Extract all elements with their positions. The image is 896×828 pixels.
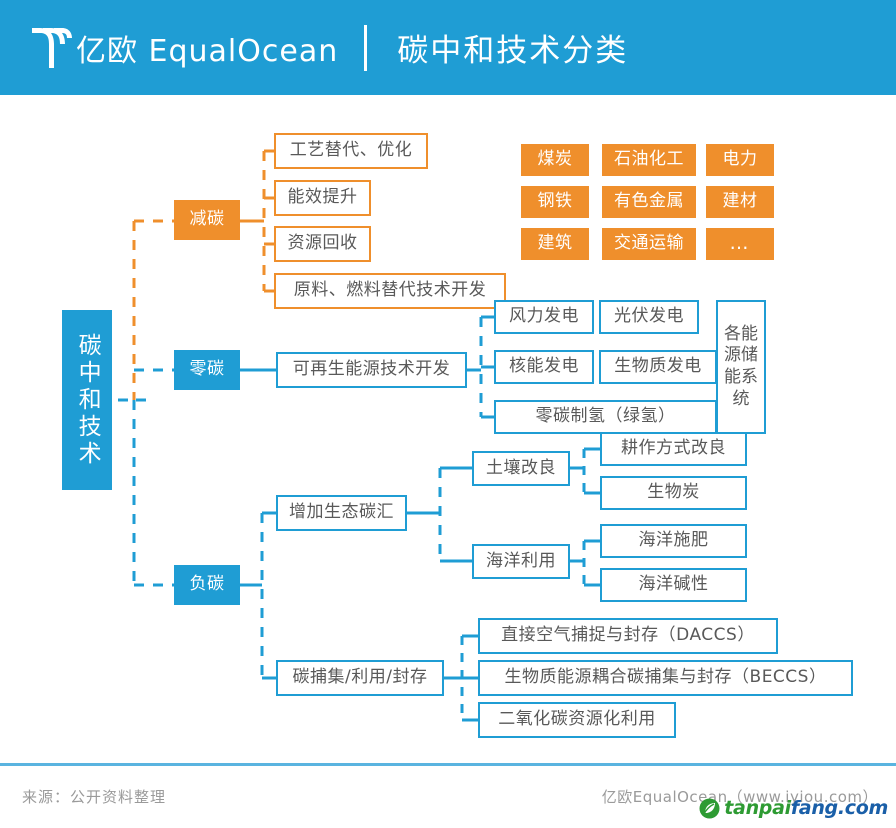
- node-zero-item-3[interactable]: 生物质发电: [599, 350, 717, 384]
- node-ccus-item-0[interactable]: 直接空气捕捉与封存（DACCS）: [478, 618, 778, 654]
- node-soil-item-1[interactable]: 生物炭: [600, 476, 747, 510]
- node-reduce-child-0[interactable]: 工艺替代、优化: [274, 133, 428, 169]
- branch-chip-negative[interactable]: 负碳: [174, 565, 240, 605]
- industry-tag-2[interactable]: 电力: [706, 144, 774, 176]
- industry-tag-8[interactable]: …: [706, 228, 774, 260]
- watermark: tanpaifang.com: [699, 797, 888, 819]
- industry-tag-0[interactable]: 煤炭: [521, 144, 589, 176]
- header-divider: [364, 25, 367, 71]
- diagram-canvas: 碳中和技术 减碳 工艺替代、优化 能效提升 资源回收 原料、燃料替代技术开发 煤…: [0, 95, 896, 755]
- brand-logo: 亿欧 EqualOcean: [30, 25, 338, 71]
- watermark-text-b: fang.com: [791, 797, 888, 819]
- node-zero-item-0[interactable]: 风力发电: [494, 300, 594, 334]
- node-reduce-child-3[interactable]: 原料、燃料替代技术开发: [274, 273, 506, 309]
- industry-tag-4[interactable]: 有色金属: [602, 186, 696, 218]
- node-ocean-item-0[interactable]: 海洋施肥: [600, 524, 747, 558]
- node-ocean-use[interactable]: 海洋利用: [472, 544, 570, 579]
- node-eco-sink[interactable]: 增加生态碳汇: [276, 495, 407, 531]
- node-zero-item-1[interactable]: 光伏发电: [599, 300, 699, 334]
- watermark-text: tanpaifang.com: [724, 797, 888, 819]
- branch-chip-reduce[interactable]: 减碳: [174, 200, 240, 240]
- industry-tag-3[interactable]: 钢铁: [521, 186, 589, 218]
- industry-tag-7[interactable]: 交通运输: [602, 228, 696, 260]
- node-zero-child-0[interactable]: 可再生能源技术开发: [276, 352, 467, 388]
- footer-divider: [0, 763, 896, 766]
- leaf-badge-icon: [699, 798, 720, 819]
- node-ccus-item-1[interactable]: 生物质能源耦合碳捕集与封存（BECCS）: [478, 660, 853, 696]
- node-reduce-child-2[interactable]: 资源回收: [274, 226, 371, 262]
- root-node[interactable]: 碳中和技术: [62, 310, 112, 490]
- source-note: 来源：公开资料整理: [22, 786, 166, 807]
- node-energy-storage[interactable]: 各能源储能系统: [716, 300, 766, 434]
- brand-name: 亿欧 EqualOcean: [76, 26, 338, 70]
- node-zero-item-2[interactable]: 核能发电: [494, 350, 594, 384]
- industry-tag-5[interactable]: 建材: [706, 186, 774, 218]
- node-ocean-item-1[interactable]: 海洋碱性: [600, 568, 747, 602]
- watermark-text-a: tanpai: [724, 797, 791, 819]
- node-reduce-child-1[interactable]: 能效提升: [274, 180, 371, 216]
- node-soil-improve[interactable]: 土壤改良: [472, 451, 570, 486]
- equalocean-logo-icon: [30, 25, 72, 71]
- page-header: 亿欧 EqualOcean 碳中和技术分类: [0, 0, 896, 95]
- industry-tag-1[interactable]: 石油化工: [602, 144, 696, 176]
- node-ccus[interactable]: 碳捕集/利用/封存: [276, 660, 444, 696]
- page-title: 碳中和技术分类: [397, 25, 628, 70]
- node-soil-item-0[interactable]: 耕作方式改良: [600, 432, 747, 466]
- branch-chip-zero[interactable]: 零碳: [174, 350, 240, 390]
- industry-tag-6[interactable]: 建筑: [521, 228, 589, 260]
- node-zero-item-4[interactable]: 零碳制氢（绿氢）: [494, 400, 717, 434]
- node-ccus-item-2[interactable]: 二氧化碳资源化利用: [478, 702, 676, 738]
